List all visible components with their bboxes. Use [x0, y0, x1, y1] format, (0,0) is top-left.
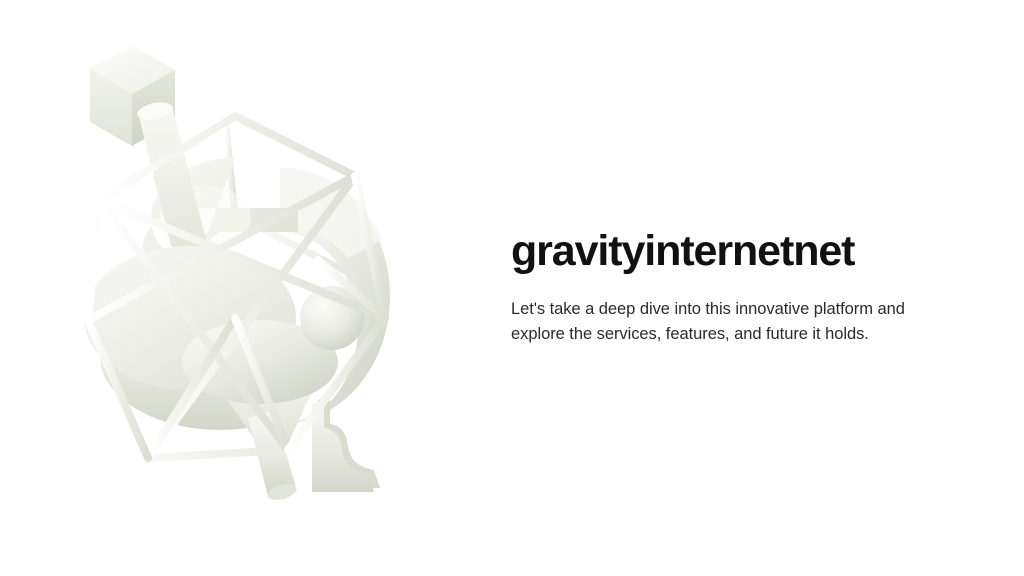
page-subtitle: Let's take a deep dive into this innovat… — [511, 297, 911, 347]
page-title: gravityinternetnet — [511, 229, 961, 275]
illustration-pane — [0, 0, 480, 576]
abstract-3d-sculpture — [30, 18, 470, 518]
corner-bracket-shape — [312, 396, 380, 492]
text-content-pane: gravityinternetnet Let's take a deep div… — [511, 0, 961, 576]
slide-canvas: gravityinternetnet Let's take a deep div… — [0, 0, 1024, 576]
